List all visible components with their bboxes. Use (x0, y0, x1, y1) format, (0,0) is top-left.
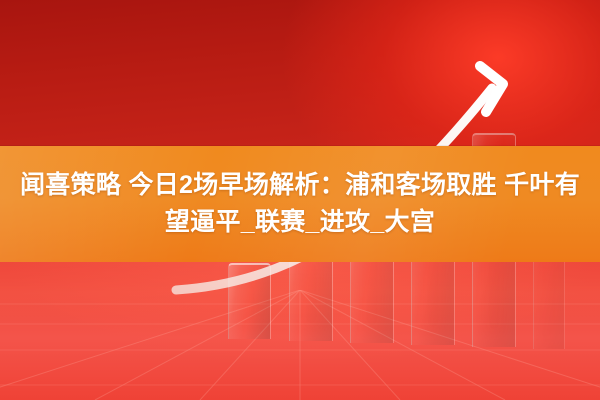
chart-bar-1 (228, 263, 271, 339)
page-title: 闻喜策略 今日2场早场解析：浦和客场取胜 千叶有望逼平_联赛_进攻_大宫 (20, 167, 580, 241)
headline-band: 闻喜策略 今日2场早场解析：浦和客场取胜 千叶有望逼平_联赛_进攻_大宫 (0, 146, 600, 262)
thumbnail-canvas: 闻喜策略 今日2场早场解析：浦和客场取胜 千叶有望逼平_联赛_进攻_大宫 (0, 0, 600, 400)
